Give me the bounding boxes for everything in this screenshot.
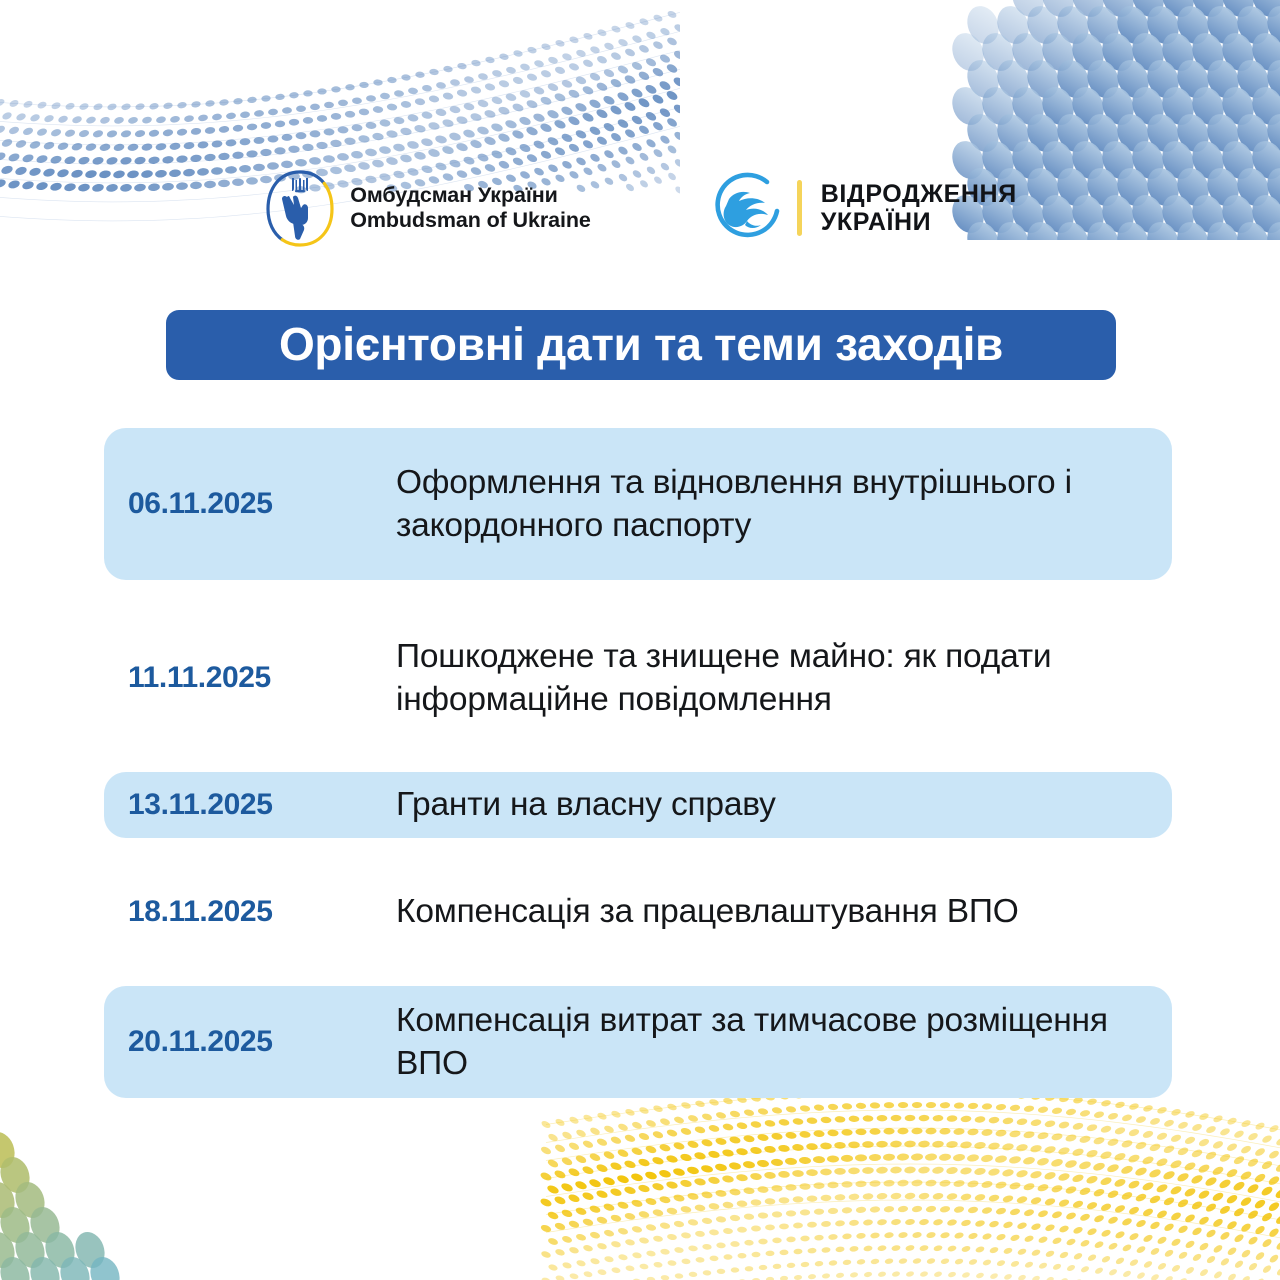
schedule-list: 06.11.2025 Оформлення та відновлення вну… [104,428,1172,1104]
ombudsman-name-uk: Омбудсман України [350,183,591,208]
row-topic: Оформлення та відновлення внутрішнього і… [396,461,1154,547]
rebirth-name-line2: УКРАЇНИ [821,208,1017,236]
ombudsman-hand-trident-logo-icon [263,164,337,252]
page-title: Орієнтовні дати та теми заходів [279,317,1003,371]
row-date: 06.11.2025 [128,487,396,521]
poster-canvas: Омбудсман України Ombudsman of Ukraine В… [0,0,1280,1280]
row-topic: Компенсація за працевлаштування ВПО [396,890,1154,933]
page-title-banner: Орієнтовні дати та теми заходів [166,310,1116,380]
schedule-row: 11.11.2025 Пошкоджене та знищене майно: … [104,602,1172,754]
ombudsman-logo-text: Омбудсман України Ombudsman of Ukraine [350,183,591,234]
row-topic: Гранти на власну справу [396,783,1154,826]
rebirth-logo-text: ВІДРОДЖЕННЯ УКРАЇНИ [821,180,1017,237]
vertical-divider-icon [797,180,802,236]
row-date: 18.11.2025 [128,895,396,929]
rebirth-name-line1: ВІДРОДЖЕННЯ [821,180,1017,208]
rebirth-logo: ВІДРОДЖЕННЯ УКРАЇНИ [709,169,1017,247]
rebirth-bird-logo-icon [709,169,787,247]
row-date: 11.11.2025 [128,661,396,695]
ombudsman-name-en: Ombudsman of Ukraine [350,208,591,233]
ombudsman-logo: Омбудсман України Ombudsman of Ukraine [263,164,591,252]
row-date: 20.11.2025 [128,1025,396,1059]
row-topic: Пошкоджене та знищене майно: як подати і… [396,635,1154,721]
header-logos: Омбудсман України Ombudsman of Ukraine В… [0,160,1280,256]
schedule-row: 20.11.2025 Компенсація витрат за тимчасо… [104,986,1172,1098]
schedule-row: 13.11.2025 Гранти на власну справу [104,772,1172,838]
row-date: 13.11.2025 [128,788,396,822]
schedule-row: 06.11.2025 Оформлення та відновлення вну… [104,428,1172,580]
schedule-row: 18.11.2025 Компенсація за працевлаштуван… [104,856,1172,968]
row-topic: Компенсація витрат за тимчасове розміщен… [396,999,1154,1085]
